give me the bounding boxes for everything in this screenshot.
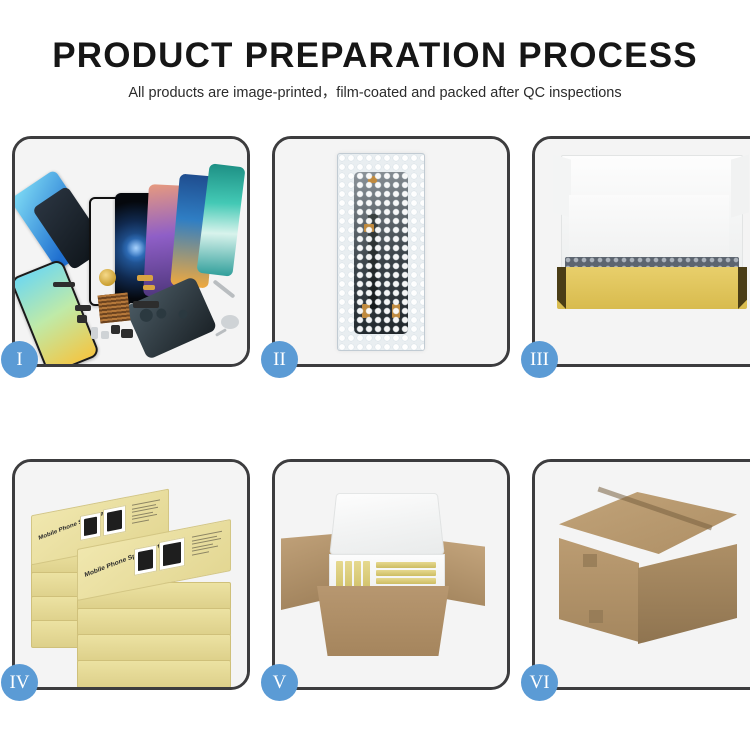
chip-grid-part	[98, 293, 131, 324]
carton-top-face	[559, 492, 737, 554]
process-step-6: VI	[532, 459, 750, 690]
box-window-front-2	[159, 537, 185, 571]
panel-1-image	[15, 139, 247, 364]
part-gold-tab	[143, 285, 155, 290]
gloved-hand	[221, 315, 239, 329]
process-step-2: II	[272, 136, 510, 367]
connector-lower-left	[362, 304, 370, 318]
step-badge-4: IV	[1, 664, 38, 701]
carton-left-face	[559, 538, 639, 642]
process-step-5: V	[272, 459, 510, 690]
process-step-4: Mobile Phone Spare Parts Mobile Phone Sp…	[12, 459, 250, 690]
connector-top	[368, 176, 377, 183]
part-camera	[111, 325, 120, 334]
wrapped-screen	[354, 172, 408, 334]
part-black-flex	[75, 305, 91, 311]
step-badge-6: VI	[521, 664, 558, 701]
step-badge-3: III	[521, 341, 558, 378]
part-sim-tray	[91, 327, 98, 339]
panel-2-image	[275, 139, 507, 364]
lid-flap-right	[731, 154, 749, 217]
foam-box-lid	[329, 493, 444, 555]
step-badge-5: V	[261, 664, 298, 701]
yellow-box-base	[557, 267, 747, 309]
carton-front-panel	[317, 586, 449, 656]
box-spec-lines-back	[132, 499, 160, 525]
screw-part	[215, 328, 227, 337]
stacked-box-front-4	[77, 660, 231, 687]
bubble-wrap-bag	[337, 153, 425, 351]
part-gold-flex	[137, 275, 153, 281]
box-spec-lines-front	[192, 531, 222, 558]
panel-3-image	[535, 139, 750, 364]
process-steps-grid: I II III	[12, 136, 738, 690]
connector-lower-right	[392, 304, 400, 318]
page-subtitle: All products are image-printed，film-coat…	[0, 86, 750, 101]
page-title: PRODUCT PREPARATION PROCESS	[0, 38, 750, 73]
panel-6-image	[535, 462, 750, 687]
box-window-front-1	[134, 544, 157, 575]
process-step-1: I	[12, 136, 250, 367]
tweezers-tool	[213, 279, 236, 298]
screen-flex-cable	[368, 214, 378, 309]
part-bracket	[101, 331, 109, 339]
part-ribbon-cable	[133, 301, 159, 308]
process-step-3: III	[532, 136, 750, 367]
part-module	[77, 315, 87, 323]
carton-tape-lower	[589, 610, 603, 623]
part-vibrator	[121, 329, 133, 338]
carton-tape-upper	[583, 554, 597, 567]
box-window-back-2	[103, 505, 126, 536]
panel-5-image	[275, 462, 507, 687]
step-badge-2: II	[261, 341, 298, 378]
box-window-back-1	[80, 512, 101, 541]
connector-mid	[364, 224, 374, 232]
stacked-box-front-2	[77, 608, 231, 636]
foam-insert	[569, 195, 729, 261]
page-header: PRODUCT PREPARATION PROCESS All products…	[0, 0, 750, 101]
part-strip	[53, 282, 75, 287]
panel-4-image: Mobile Phone Spare Parts Mobile Phone Sp…	[15, 462, 247, 687]
stacked-box-front-3	[77, 634, 231, 662]
step-badge-1: I	[1, 341, 38, 378]
speaker-coil-part	[99, 269, 116, 286]
carton-right-face	[638, 544, 737, 644]
